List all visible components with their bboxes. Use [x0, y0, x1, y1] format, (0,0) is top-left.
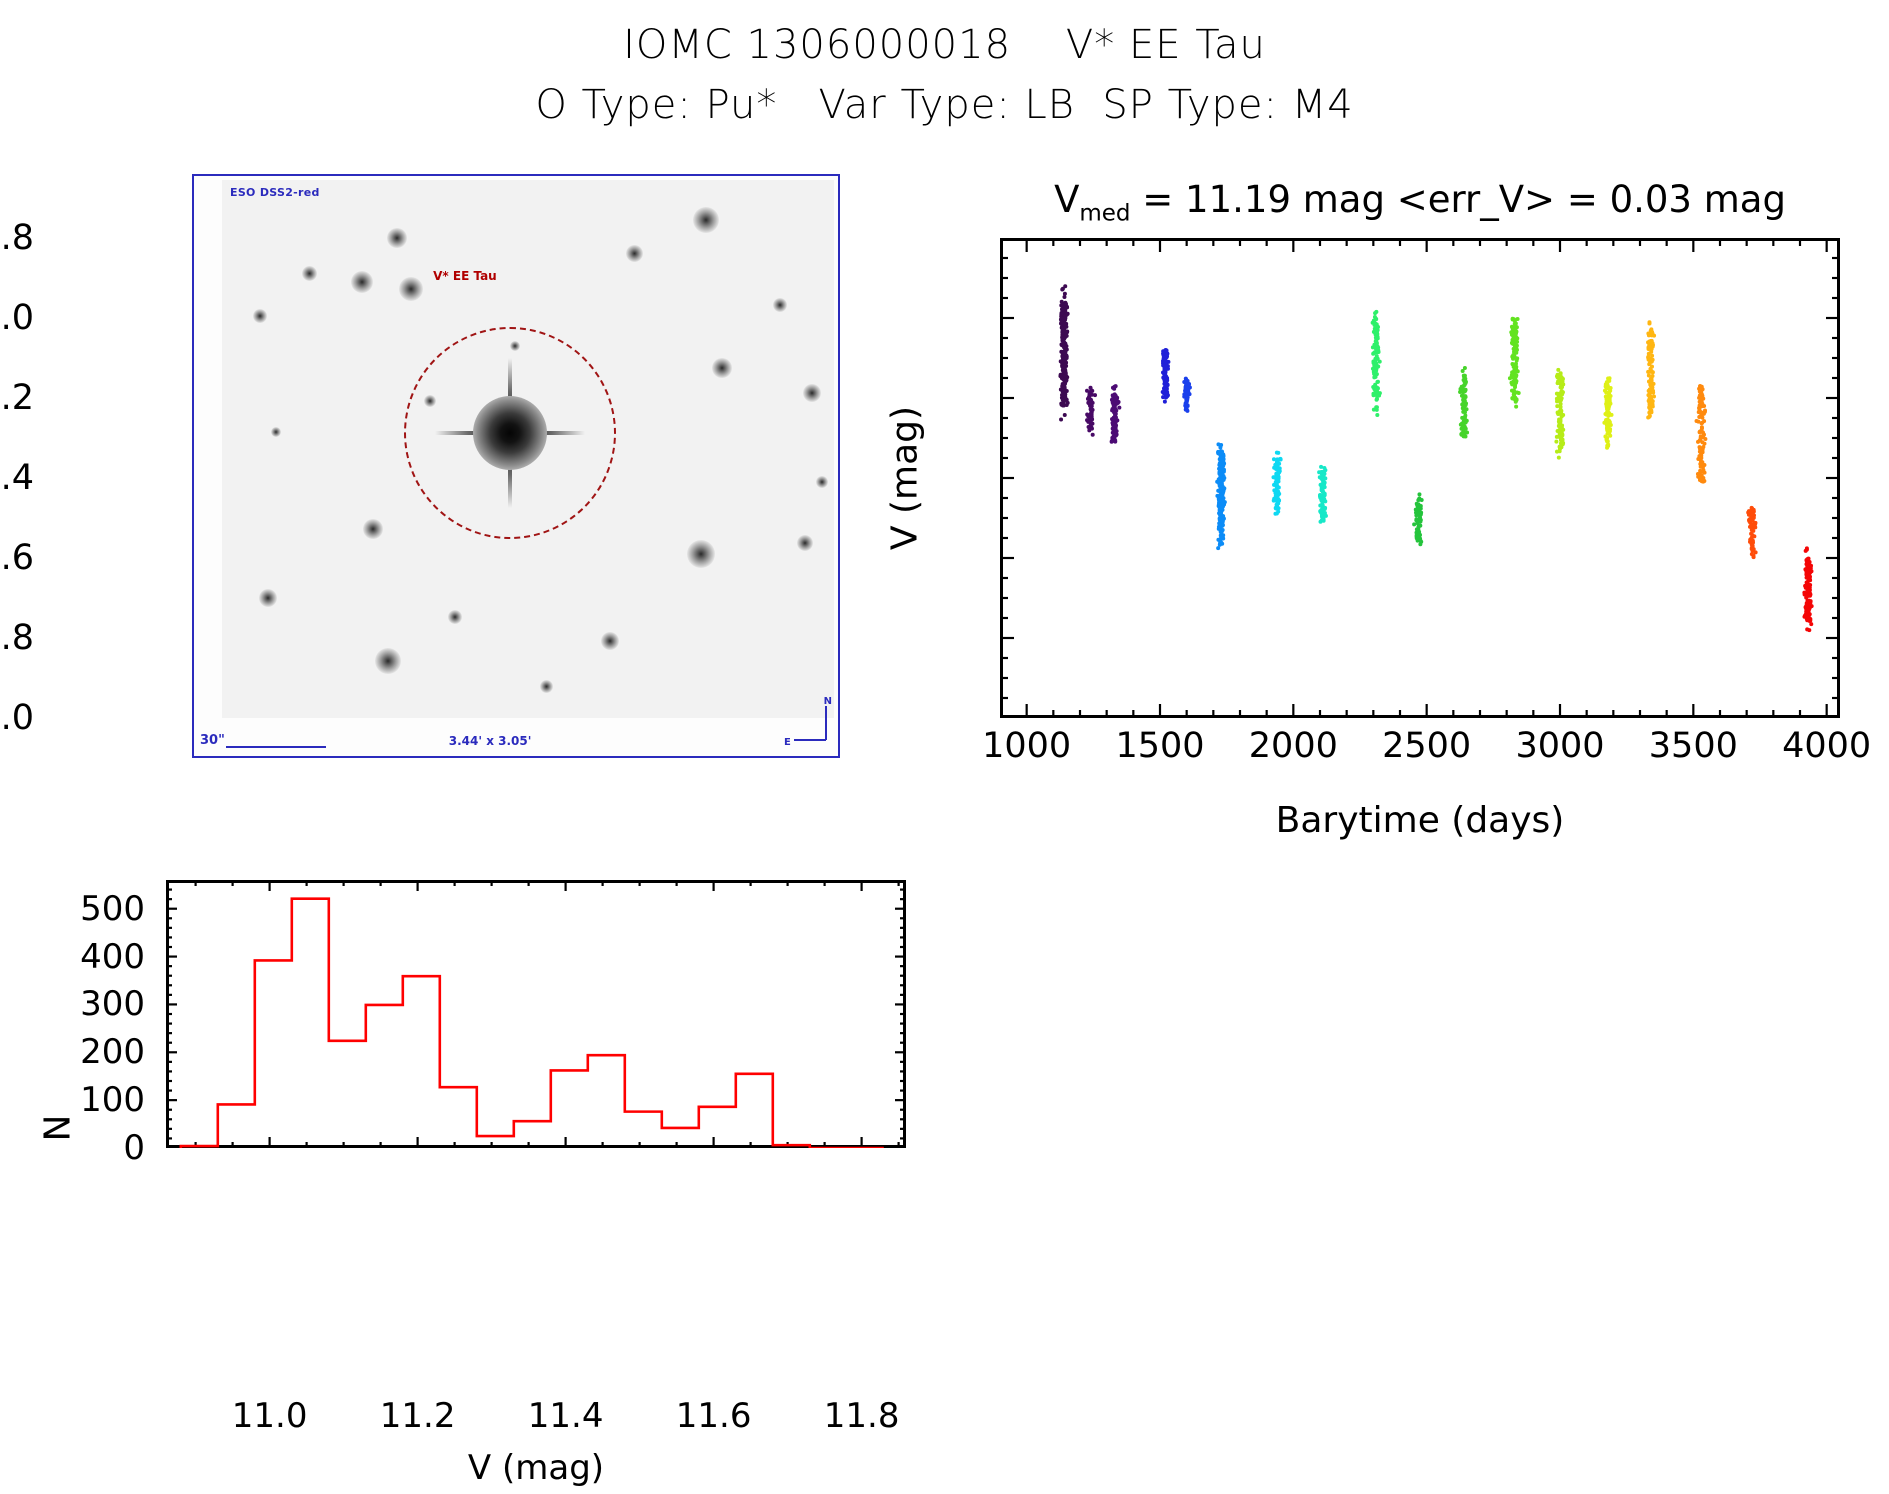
histogram-y-tick-label: 100: [80, 1080, 145, 1120]
histogram-y-tick-label: 200: [80, 1032, 145, 1072]
field-star: [540, 680, 553, 693]
field-star: [259, 589, 277, 607]
lightcurve-x-axis-label: Barytime (days): [1276, 800, 1565, 841]
histogram-plot[interactable]: [166, 880, 906, 1148]
vmed-values: = 11.19 mag <err_V> = 0.03 mag: [1131, 178, 1786, 221]
histogram-step-outline: [181, 899, 884, 1148]
histogram-y-axis-label: N: [38, 1115, 79, 1142]
lightcurve-y-tick-label: 10.8: [0, 218, 34, 258]
field-star: [351, 271, 373, 293]
vmed-symbol: V: [1054, 178, 1079, 221]
survey-label: ESO DSS2-red: [230, 186, 320, 199]
finder-chart[interactable]: ESO DSS2-red V* EE Tau 30" 3.44' x 3.: [192, 174, 840, 758]
finder-chart-image: ESO DSS2-red V* EE Tau: [222, 180, 834, 718]
field-of-view-label: 3.44' x 3.05': [449, 734, 532, 748]
lightcurve-y-tick-label: 11.8: [0, 618, 34, 658]
field-star: [712, 358, 732, 378]
title-line-types: O Type: Pu* Var Type: LB SP Type: M4: [0, 82, 1889, 128]
target-star: [462, 385, 558, 481]
field-star: [399, 277, 423, 301]
histogram-x-tick-label: 11.8: [824, 1396, 900, 1436]
lightcurve-x-tick-label: 3500: [1649, 726, 1738, 766]
histogram-x-tick-label: 11.6: [676, 1396, 752, 1436]
lightcurve-plot[interactable]: [1000, 238, 1840, 718]
lightcurve-x-tick-label: 2500: [1382, 726, 1471, 766]
histogram-x-axis-label: V (mag): [468, 1448, 604, 1488]
vmed-subscript: med: [1079, 200, 1130, 226]
field-star: [387, 228, 407, 248]
histogram-canvas: [166, 880, 906, 1148]
histogram-x-tick-label: 11.4: [528, 1396, 604, 1436]
page-title: IOMC 1306000018 V* EE Tau O Type: Pu* Va…: [0, 22, 1889, 128]
scale-bar: [226, 746, 326, 748]
field-star: [271, 427, 281, 437]
field-star: [302, 266, 317, 281]
compass-rose: N E: [788, 700, 830, 744]
histogram-y-tick-label: 500: [80, 889, 145, 929]
histogram-y-tick-label: 400: [80, 937, 145, 977]
histogram-x-tick-label: 11.2: [380, 1396, 456, 1436]
field-star: [363, 519, 383, 539]
field-star: [797, 535, 813, 551]
title-line-object: IOMC 1306000018 V* EE Tau: [0, 22, 1889, 68]
lightcurve-x-tick-label: 1500: [1115, 726, 1204, 766]
histogram-y-tick-label: 0: [123, 1128, 145, 1168]
object-label: V* EE Tau: [433, 269, 497, 283]
field-star: [375, 648, 401, 674]
lightcurve-y-tick-label: 11.4: [0, 458, 34, 498]
lightcurve-x-tick-label: 1000: [982, 726, 1071, 766]
lightcurve-x-tick-label: 2000: [1249, 726, 1338, 766]
lightcurve-x-tick-label: 3000: [1515, 726, 1604, 766]
lightcurve-y-tick-label: 12.0: [0, 698, 34, 738]
lightcurve-y-tick-label: 11.0: [0, 298, 34, 338]
field-star: [687, 540, 715, 568]
lightcurve-y-tick-label: 11.6: [0, 538, 34, 578]
histogram-x-tick-label: 11.0: [232, 1396, 308, 1436]
field-star: [816, 476, 828, 488]
scale-label: 30": [200, 733, 225, 748]
compass-east-label: E: [784, 737, 791, 748]
lightcurve-y-tick-label: 11.2: [0, 378, 34, 418]
lightcurve-title: Vmed = 11.19 mag <err_V> = 0.03 mag: [1000, 178, 1840, 226]
histogram-y-tick-label: 300: [80, 984, 145, 1024]
field-star: [803, 384, 821, 402]
field-star: [601, 632, 619, 650]
lightcurve-y-axis-label: V (mag): [885, 406, 926, 550]
field-star: [626, 245, 643, 262]
field-star: [448, 610, 462, 624]
field-star: [773, 298, 787, 312]
field-star: [693, 207, 719, 233]
lightcurve-x-tick-label: 4000: [1782, 726, 1871, 766]
compass-north-label: N: [824, 696, 832, 707]
lightcurve-canvas: [1000, 238, 1840, 718]
target-star-core: [473, 396, 547, 470]
field-star: [253, 309, 267, 323]
